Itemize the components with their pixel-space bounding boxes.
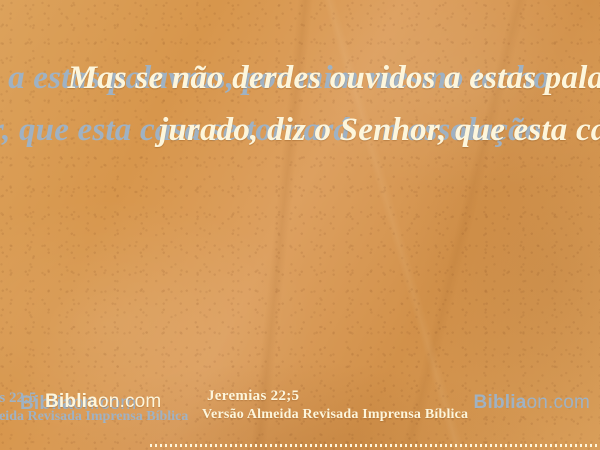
bible-version: Versão Almeida Revisada Imprensa Bíblica <box>202 407 468 423</box>
site-logo[interactable]: Bibliaon.com <box>45 391 161 413</box>
site-logo-light: on.com <box>98 391 162 412</box>
site-logo-ghost-right-light: on.com <box>526 392 590 413</box>
dotted-divider <box>150 444 600 447</box>
site-logo-ghost-right-bold: Biblia <box>474 392 527 413</box>
verse-text: Mas se não derdes ouvidos a estas palavr… <box>46 52 600 156</box>
site-logo-bold: Biblia <box>45 391 98 412</box>
verse-card: Mas se não derdes ouvidos a estas palavr… <box>0 0 600 450</box>
verse-reference: Jeremias 22;5 <box>207 388 299 405</box>
site-logo-ghost-right: Bibliaon.com <box>474 392 590 414</box>
